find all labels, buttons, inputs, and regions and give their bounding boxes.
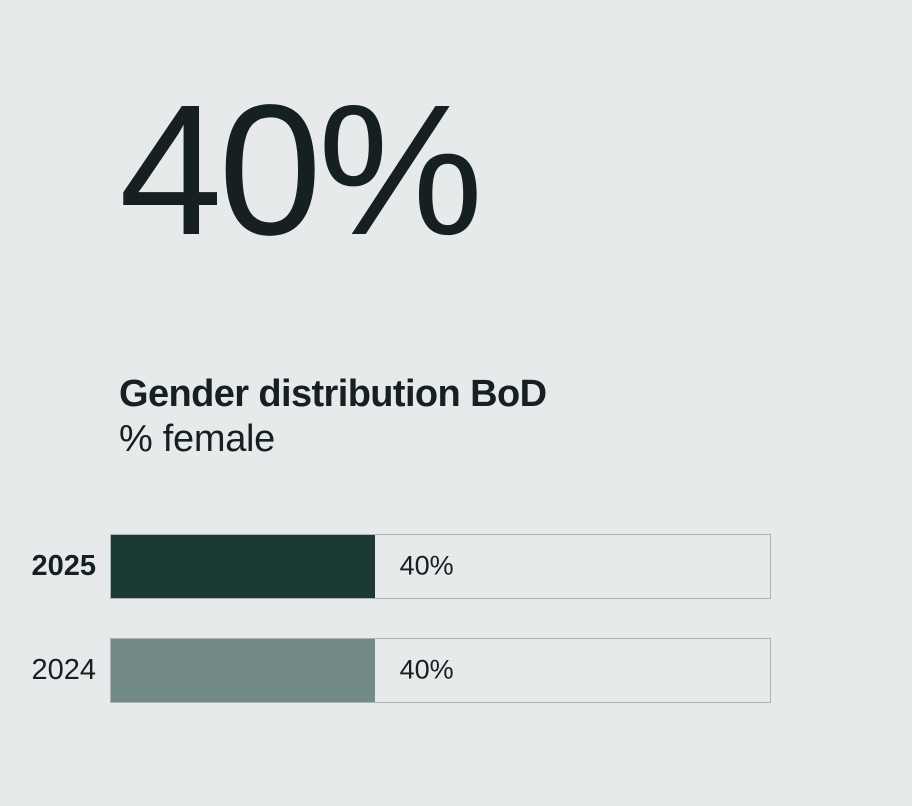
bar-fill-2025	[111, 535, 375, 598]
bar-value-label-2024: 40%	[400, 657, 454, 684]
bar-value-label-2025: 40%	[400, 553, 454, 580]
bar-fill-2024	[111, 639, 375, 702]
chart-heading: Gender distribution BoD % female	[119, 372, 819, 462]
gender-distribution-chart: Gender distribution BoD % female 2025 40…	[0, 372, 912, 703]
bar-chart-plot-area: 2025 40% 2024 40%	[0, 534, 912, 703]
chart-title: Gender distribution BoD	[119, 372, 819, 417]
bar-row: 2024 40%	[0, 638, 912, 703]
bar-track-2024: 40%	[110, 638, 771, 703]
kpi-headline-value: 40%	[119, 78, 479, 264]
bar-row: 2025 40%	[0, 534, 912, 599]
bar-category-label-2024: 2024	[0, 656, 110, 685]
chart-subtitle: % female	[119, 417, 819, 462]
bar-category-label-2025: 2025	[0, 552, 110, 581]
bar-track-2025: 40%	[110, 534, 771, 599]
